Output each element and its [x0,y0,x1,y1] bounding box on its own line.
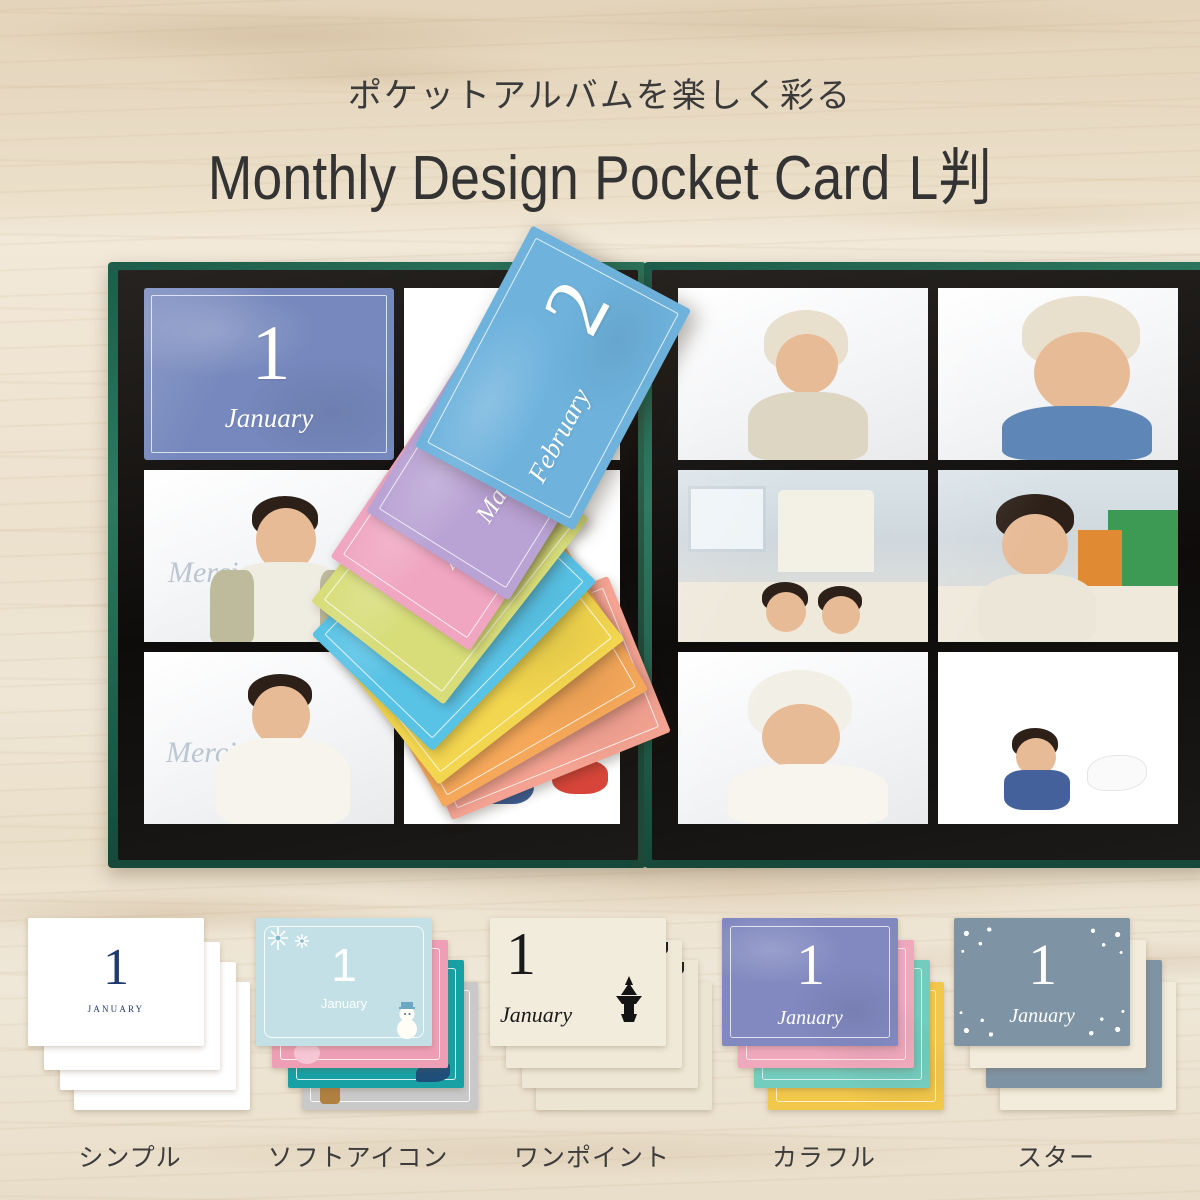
sample-star[interactable]: 1 January スター [948,900,1164,1130]
card-month: JANUARY [88,1004,145,1014]
toddler-photo [938,652,1178,824]
denim-outfit [1004,770,1070,810]
sample-label-star: スター [948,1138,1164,1174]
album-pocket-photo [938,652,1178,824]
child-body [978,574,1096,642]
sample-row: 1 JANUARY シンプル [0,900,1200,1200]
snowman-icon [390,996,424,1040]
card-number: 1 [251,314,290,392]
sample-front-card: 1 January [954,918,1130,1046]
face [822,596,860,634]
card-number: 1 [796,936,825,994]
sample-label-colorful: カラフル [716,1138,932,1174]
title-main: Monthly Design Pocket Card [208,144,891,213]
sample-one-point[interactable]: 1 January ワンポイント [484,900,700,1130]
sample-front-card: 1 JANUARY [28,918,204,1046]
baby-photo [938,288,1178,460]
sample-front-card: 1 January [490,918,666,1046]
fanned-card-stack: July June April March 2 February [376,262,826,882]
denim-shirt [1002,406,1152,460]
face [252,686,310,746]
card-month: January [321,996,367,1011]
card-month: January [777,1007,843,1030]
stuffed-animal [1088,756,1146,790]
card-month: January [500,1002,572,1028]
album-month-card: 1 January [144,288,394,460]
tagline: ポケットアルバムを楽しく彩る [0,68,1200,117]
card-month: January [1009,1005,1075,1028]
pine-decoration-icon [614,976,644,1026]
sample-front-card: 1 January [722,918,898,1046]
album-pocket-photo [938,470,1178,642]
playroom-photo [938,470,1178,642]
baby-sleeve-left [210,570,254,642]
header: ポケットアルバムを楽しく彩る Monthly Design Pocket Car… [0,0,1200,217]
sample-label-soft-icon: ソフトアイコン [250,1138,466,1174]
face [1034,332,1130,414]
snowflake-icon [262,922,318,962]
album-pocket-card: 1 January [144,288,394,460]
sample-label-one-point: ワンポイント [484,1138,700,1174]
sample-label-simple: シンプル [22,1138,238,1174]
sample-simple[interactable]: 1 JANUARY シンプル [22,900,238,1130]
sample-front-card: 1 January [256,918,432,1046]
album-photo: 1 January Merci Merci [96,258,1200,878]
album-pocket-photo [938,288,1178,460]
card-number: 1 [506,924,536,984]
face [1002,514,1068,576]
card-number: 1 [1028,936,1057,994]
baby-body [216,738,350,824]
sample-colorful[interactable]: 1 January カラフル [716,900,932,1130]
card-month: January [225,403,313,434]
page-title: Monthly Design Pocket CardL判 [84,127,1116,217]
orange-toy [1078,530,1122,590]
card-number: 1 [103,942,129,994]
sample-soft-icon[interactable]: 1 January ソフトアイコン [250,900,466,1130]
card-number: 1 [331,942,357,988]
title-size: L判 [909,144,993,213]
